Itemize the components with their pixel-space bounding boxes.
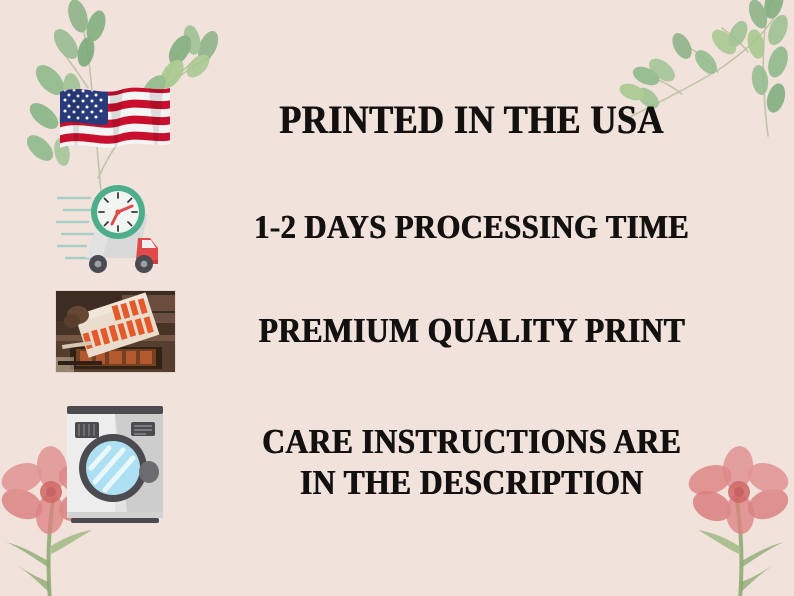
processing-time-text-cell: 1-2 DAYS PROCESSING TIME (190, 208, 754, 247)
us-flag-icon-cell (40, 82, 190, 158)
washing-machine-icon (61, 400, 169, 526)
screen-printing-photo-cell (40, 291, 190, 372)
care-instructions-text-cell: CARE INSTRUCTIONS ARE IN THE DESCRIPTION (190, 422, 754, 503)
premium-quality-text-cell: PREMIUM QUALITY PRINT (190, 311, 754, 352)
printed-in-usa-text-cell: PRINTED IN THE USA (190, 97, 754, 143)
delivery-truck-clock-icon (56, 180, 174, 276)
feature-row-processing-time: 1-2 DAYS PROCESSING TIME (40, 178, 754, 278)
feature-row-premium-quality: PREMIUM QUALITY PRINT (40, 282, 754, 380)
washing-machine-icon-cell (40, 400, 190, 526)
headline-printed-in-usa: PRINTED IN THE USA (280, 97, 665, 143)
delivery-truck-clock-icon-cell (40, 180, 190, 276)
poster-canvas: PRINTED IN THE USA (0, 0, 794, 596)
care-instructions-line-2: IN THE DESCRIPTION (262, 463, 681, 504)
us-flag-icon (58, 82, 172, 158)
headline-care-instructions: CARE INSTRUCTIONS ARE IN THE DESCRIPTION (262, 422, 681, 503)
care-instructions-line-1: CARE INSTRUCTIONS ARE (262, 422, 681, 461)
headline-processing-time: 1-2 DAYS PROCESSING TIME (254, 208, 689, 247)
feature-row-printed-in-usa: PRINTED IN THE USA (40, 72, 754, 168)
feature-row-care-instructions: CARE INSTRUCTIONS ARE IN THE DESCRIPTION (40, 392, 754, 534)
screen-printing-photo (56, 291, 175, 372)
headline-premium-quality: PREMIUM QUALITY PRINT (259, 311, 686, 352)
